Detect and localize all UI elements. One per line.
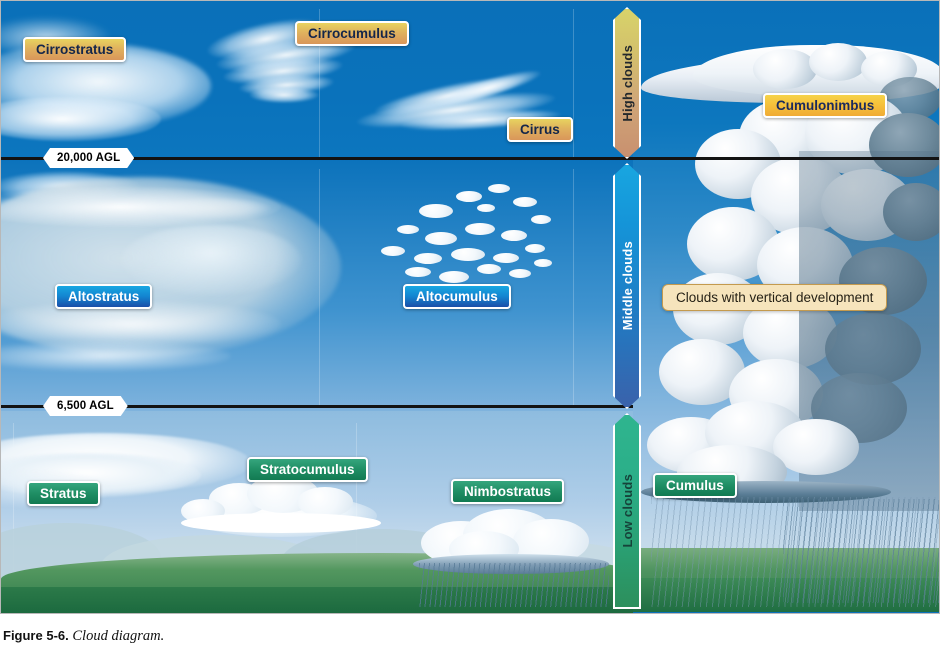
altocumulus-cloud bbox=[477, 204, 495, 212]
altocumulus-cloud bbox=[381, 246, 405, 256]
altocumulus-cloud bbox=[488, 184, 510, 193]
rain-shaft bbox=[783, 499, 939, 603]
altocumulus-cloud bbox=[534, 259, 552, 267]
label-cirrocumulus[interactable]: Cirrocumulus bbox=[295, 21, 409, 46]
altocumulus-cloud bbox=[405, 267, 431, 277]
altocumulus-cloud bbox=[509, 269, 531, 278]
label-stratus[interactable]: Stratus bbox=[27, 481, 100, 506]
altocumulus-cloud bbox=[425, 232, 457, 245]
band-middle-label: Middle clouds bbox=[620, 241, 635, 330]
figure-number: Figure 5-6. bbox=[3, 628, 69, 643]
stratocumulus-cloud bbox=[181, 513, 381, 533]
altocumulus-cloud bbox=[501, 230, 527, 241]
label-cirrus[interactable]: Cirrus bbox=[507, 117, 573, 142]
altocumulus-cloud bbox=[525, 244, 545, 253]
label-cirrostratus[interactable]: Cirrostratus bbox=[23, 37, 126, 62]
band-high-label: High clouds bbox=[620, 45, 635, 122]
figure-caption: Figure 5-6. Cloud diagram. bbox=[3, 628, 164, 645]
altocumulus-cloud bbox=[451, 248, 485, 261]
label-vertical-development[interactable]: Clouds with vertical development bbox=[662, 284, 887, 311]
figure-title: Cloud diagram. bbox=[72, 628, 164, 644]
altocumulus-cloud bbox=[419, 204, 453, 218]
altocumulus-cloud bbox=[493, 253, 519, 263]
altocumulus-cloud bbox=[513, 197, 537, 207]
label-altostratus[interactable]: Altostratus bbox=[55, 284, 152, 309]
altocumulus-cloud bbox=[531, 215, 551, 224]
altocumulus-cloud bbox=[456, 191, 482, 202]
cloud-altitude-bands: High clouds Middle clouds Low clouds bbox=[613, 7, 641, 609]
guide-line bbox=[573, 9, 574, 157]
label-stratocumulus[interactable]: Stratocumulus bbox=[247, 457, 368, 482]
cumulonimbus-lobe bbox=[809, 43, 867, 81]
band-high-clouds[interactable]: High clouds bbox=[613, 7, 641, 159]
band-low-label: Low clouds bbox=[620, 474, 635, 548]
altocumulus-cloud bbox=[465, 223, 495, 235]
label-cumulonimbus[interactable]: Cumulonimbus bbox=[763, 93, 887, 118]
band-middle-clouds[interactable]: Middle clouds bbox=[613, 163, 641, 409]
guide-line bbox=[573, 169, 574, 405]
figure-container: 20,000 AGL 6,500 AGL High clouds Middle … bbox=[0, 0, 940, 658]
label-nimbostratus[interactable]: Nimbostratus bbox=[451, 479, 564, 504]
rain-shaft bbox=[419, 563, 609, 607]
divider-20000 bbox=[1, 157, 939, 160]
cloud-diagram: 20,000 AGL 6,500 AGL High clouds Middle … bbox=[0, 0, 940, 614]
label-altocumulus[interactable]: Altocumulus bbox=[403, 284, 511, 309]
altocumulus-cloud bbox=[414, 253, 442, 264]
altocumulus-cloud bbox=[477, 264, 501, 274]
label-cumulus[interactable]: Cumulus bbox=[653, 473, 737, 498]
altitude-marker-20000: 20,000 AGL bbox=[43, 148, 134, 168]
cirrocumulus-cloud bbox=[249, 87, 319, 103]
altitude-marker-6500: 6,500 AGL bbox=[43, 396, 128, 416]
altocumulus-cloud bbox=[439, 271, 469, 283]
cumulonimbus-lobe bbox=[753, 49, 817, 89]
band-low-clouds[interactable]: Low clouds bbox=[613, 413, 641, 609]
altocumulus-cloud bbox=[397, 225, 419, 234]
